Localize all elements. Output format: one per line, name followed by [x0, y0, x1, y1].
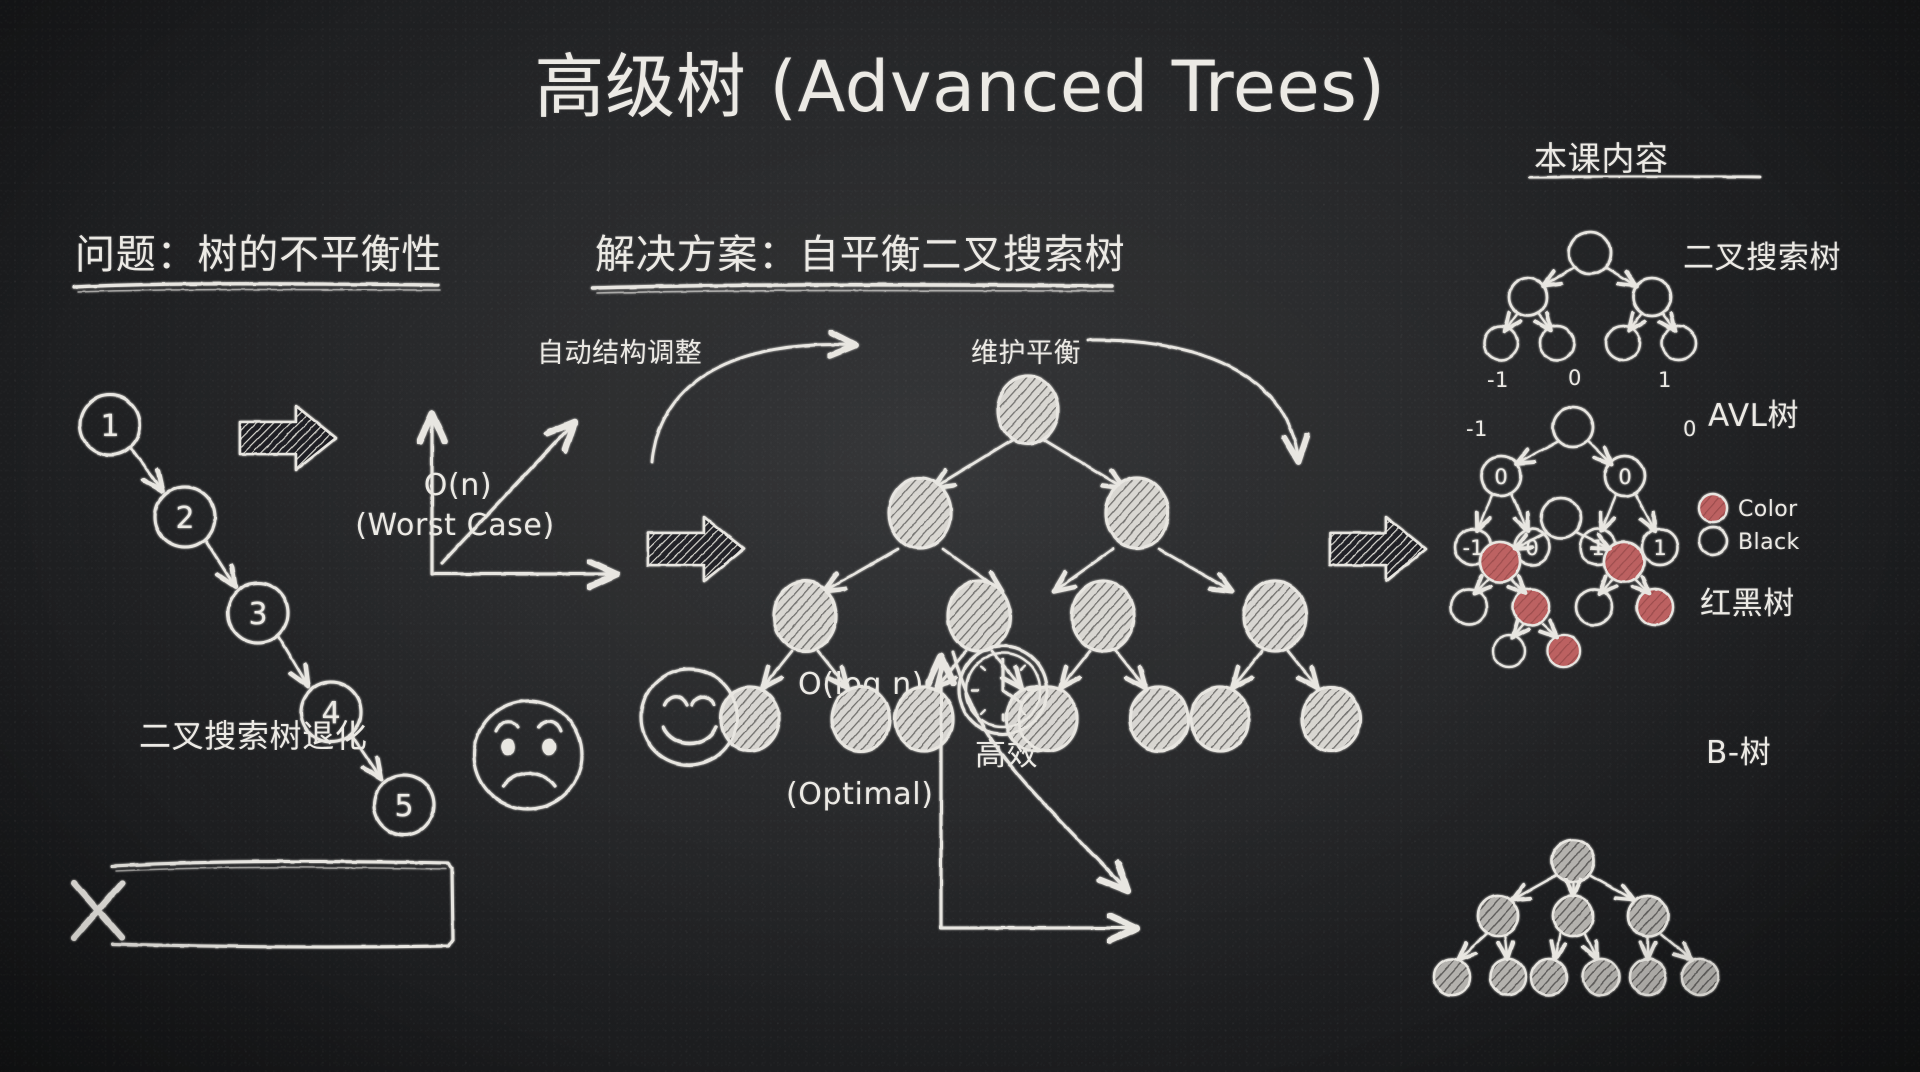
- avl-leaf-2: 0: [1525, 536, 1538, 560]
- toc-tree-bst: [1484, 232, 1696, 360]
- toc-tree-rbt: [1451, 498, 1673, 667]
- chain-node-2: 2: [175, 501, 194, 536]
- toc-tree-btree: [1434, 840, 1718, 995]
- clock-icon: [959, 646, 1047, 734]
- block-arrow-3: [1330, 517, 1426, 581]
- cross-icon: [74, 883, 122, 938]
- legend-swatch-black: [1699, 527, 1727, 555]
- heading-underline-center: [592, 285, 1114, 293]
- heading-underline-left: [74, 284, 440, 292]
- chain-node-1: 1: [100, 409, 119, 444]
- avl-leaf-1: -1: [1463, 536, 1484, 560]
- sad-face-icon: [474, 701, 582, 809]
- curve-arrow-right: [1088, 340, 1298, 458]
- heading-underline-toc: [1530, 176, 1760, 178]
- worst-case-chart: [432, 418, 613, 574]
- toc-tree-avl: [1455, 407, 1678, 565]
- legend-swatch-color: [1699, 494, 1727, 522]
- avl-leaf-4: 1: [1653, 536, 1666, 560]
- chalkboard: 高级树 (Advanced Trees) 问题：树的不平衡性 解决方案：自平衡二…: [0, 0, 1920, 1072]
- avl-leaf-3: 1: [1591, 536, 1604, 560]
- bst-degeneration-box: [112, 861, 453, 947]
- chalk-drawing-layer: 1 2 3 4 5 0 0 -1 0 1 1: [0, 0, 1920, 1072]
- avl-node-left: 0: [1494, 465, 1507, 489]
- chain-node-3: 3: [248, 597, 267, 632]
- avl-node-right: 0: [1618, 465, 1631, 489]
- chain-node-5: 5: [394, 789, 413, 824]
- block-arrow-1: [240, 406, 336, 470]
- chain-node-4: 4: [321, 696, 340, 731]
- curve-arrow-left: [652, 345, 852, 462]
- block-arrow-2: [648, 517, 744, 581]
